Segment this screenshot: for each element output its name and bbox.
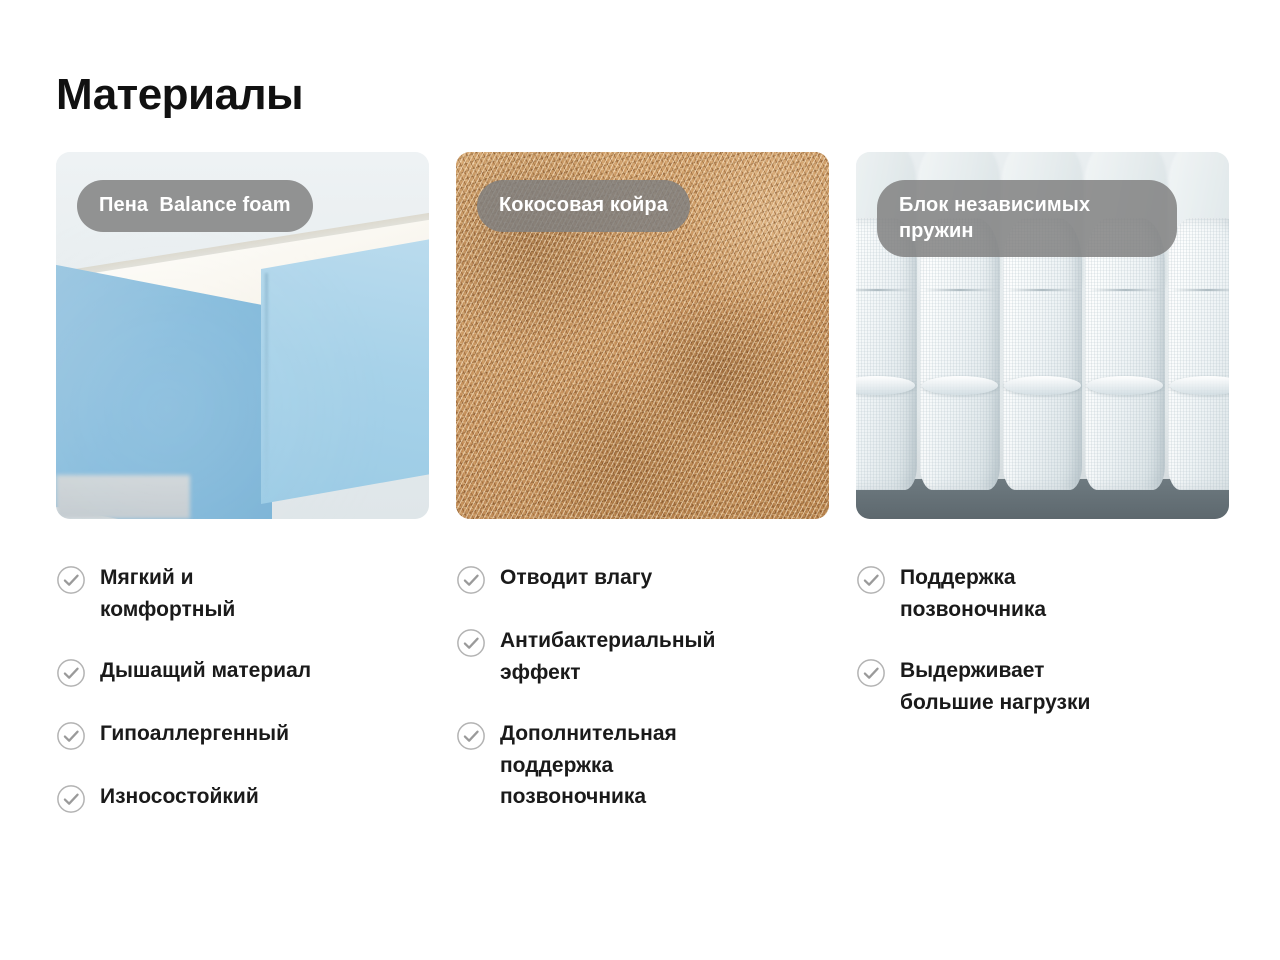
feature-label: Мягкий и комфортный [100, 562, 235, 625]
feature-column-springs: Поддержка позвоночника Выдерживает больш… [856, 562, 1229, 844]
feature-label: Дополнительная поддержка позвоночника [500, 718, 677, 813]
feature-label: Отводит влагу [500, 562, 652, 594]
material-card-springs[interactable]: Блок независимых пружин [856, 152, 1229, 519]
fabric-weave [1168, 218, 1229, 490]
springs-front-row [856, 218, 1229, 490]
fabric-weave [920, 218, 1000, 490]
badge-label-foam: Пена Balance foam [77, 180, 313, 232]
check-circle-icon [456, 628, 486, 658]
feature-label: Дышащий материал [100, 655, 311, 687]
check-circle-icon [456, 721, 486, 751]
feature-item: Отводит влагу [456, 562, 829, 595]
check-circle-icon [56, 658, 86, 688]
feature-item: Поддержка позвоночника [856, 562, 1229, 625]
fabric-weave [856, 218, 917, 490]
feature-item: Дополнительная поддержка позвоночника [456, 718, 829, 813]
page-title: Материалы [56, 72, 303, 118]
feature-item: Износостойкий [56, 781, 429, 814]
feature-label: Гипоаллергенный [100, 718, 289, 750]
feature-lists: Мягкий и комфортный Дышащий материал Гип… [56, 562, 1228, 844]
check-circle-icon [856, 565, 886, 595]
check-circle-icon [56, 784, 86, 814]
fabric-weave [1003, 218, 1083, 490]
material-card-foam[interactable]: Пена Balance foam [56, 152, 429, 519]
fabric-weave [1085, 218, 1165, 490]
check-circle-icon [456, 565, 486, 595]
check-circle-icon [856, 658, 886, 688]
feature-label: Выдерживает большие нагрузки [900, 655, 1090, 718]
spring-pocket [1085, 218, 1165, 490]
feature-item: Мягкий и комфортный [56, 562, 429, 625]
feature-item: Дышащий материал [56, 655, 429, 688]
badge-label-springs: Блок независимых пружин [877, 180, 1177, 257]
spring-pocket [920, 218, 1000, 490]
feature-column-foam: Мягкий и комфортный Дышащий материал Гип… [56, 562, 429, 844]
spring-pocket [856, 218, 917, 490]
material-card-coir[interactable]: Кокосовая койра [456, 152, 829, 519]
feature-label: Поддержка позвоночника [900, 562, 1046, 625]
spring-pocket [1003, 218, 1083, 490]
check-circle-icon [56, 721, 86, 751]
feature-label: Износостойкий [100, 781, 259, 813]
badge-label-coir: Кокосовая койра [477, 180, 690, 232]
check-circle-icon [56, 565, 86, 595]
materials-slide: Материалы Пена Balance foam Кокосовая ко… [0, 0, 1280, 960]
feature-label: Антибактериальный эффект [500, 625, 715, 688]
material-cards: Пена Balance foam Кокосовая койра [56, 152, 1228, 519]
feature-item: Антибактериальный эффект [456, 625, 829, 688]
feature-item: Гипоаллергенный [56, 718, 429, 751]
feature-column-coir: Отводит влагу Антибактериальный эффект Д… [456, 562, 829, 844]
spring-pocket [1168, 218, 1229, 490]
feature-item: Выдерживает большие нагрузки [856, 655, 1229, 718]
